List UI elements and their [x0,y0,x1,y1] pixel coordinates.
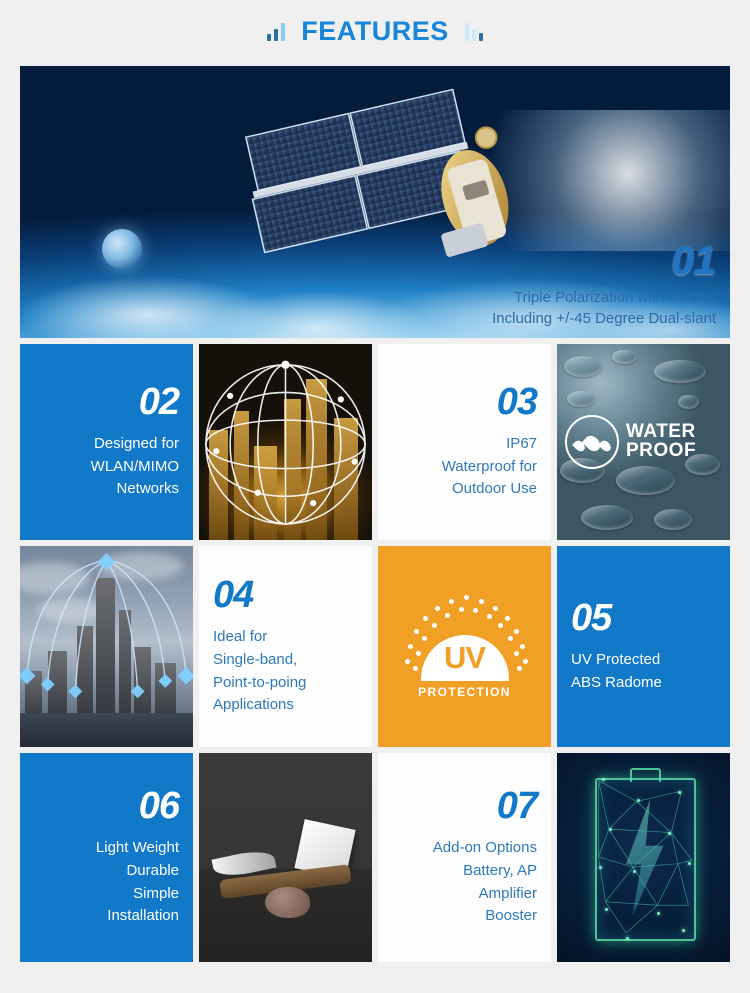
features-page: FEATURES [0,0,750,993]
water-droplets-photo[interactable]: WATER PROOF [557,344,730,540]
bar-chart-icon-left [267,21,285,41]
feature-line: Installation [96,905,179,928]
bar-chart-icon-right [465,21,483,41]
feature-line: Ideal for [213,626,306,649]
feature-line: IP67 [442,433,537,456]
uv-protection-card[interactable]: UV PROTECTION [378,546,551,747]
feature-line: Simple [96,883,179,906]
feature-number-02: 02 [139,383,179,421]
page-header: FEATURES [0,0,750,62]
stone-object [265,887,310,918]
feature-card-03[interactable]: 03 IP67 Waterproof for Outdoor Use [378,344,551,540]
uv-protection-label: PROTECTION [403,685,527,699]
feature-line: Waterproof for [442,456,537,479]
feature-number-05: 05 [571,599,611,637]
feature-number-04: 04 [213,576,253,614]
feature-line: Networks [91,478,179,501]
feature-line: WLAN/MIMO [91,456,179,479]
network-globe-overlay [199,344,372,534]
night-city-network-globe-photo[interactable] [199,344,372,540]
uv-label: UV [421,635,509,681]
feature-line: Booster [433,905,537,928]
low-poly-battery-lightning-photo[interactable] [557,753,730,962]
feature-line: ABS Radome [571,672,662,695]
feature-number-07: 07 [497,787,537,825]
page-title: FEATURES [301,16,449,47]
feature-line: Light Weight [96,837,179,860]
features-grid: 01 Triple Polarization with 3 Ports Incl… [20,66,730,962]
feature-line: Amplifier [433,883,537,906]
feature-card-01-text: 01 Triple Polarization with 3 Ports Incl… [492,241,716,331]
wireless-arcs-overlay [20,546,193,736]
feature-number-06: 06 [139,787,179,825]
feature-line: Including +/-45 Degree Dual-slant [492,308,716,330]
feature-card-05[interactable]: 05 UV Protected ABS Radome [557,546,730,747]
feature-line: Triple Polarization with 3 Ports [492,287,716,309]
waterproof-label-line2: PROOF [626,442,696,461]
feature-line: Add-on Options [433,837,537,860]
city-skyline-wireless-signal-photo[interactable] [20,546,193,747]
water-drop-icon [565,415,619,469]
feature-line: Applications [213,694,306,717]
feature-line: Durable [96,860,179,883]
feature-line: Outdoor Use [442,478,537,501]
waterproof-badge: WATER PROOF [565,415,696,469]
feature-card-02[interactable]: 02 Designed for WLAN/MIMO Networks [20,344,193,540]
feather-and-box-balanced-on-log-photo[interactable] [199,753,372,962]
feature-number-01: 01 [492,241,716,281]
feature-card-06[interactable]: 06 Light Weight Durable Simple Installat… [20,753,193,962]
feature-line: Designed for [91,433,179,456]
feature-line: UV Protected [571,649,662,672]
feature-line: Battery, AP [433,860,537,883]
feature-card-04[interactable]: 04 Ideal for Single-band, Point-to-poing… [199,546,372,747]
feature-line: Single-band, [213,649,306,672]
low-poly-mesh [557,753,730,961]
uv-sun-icon: UV PROTECTION [403,593,527,701]
feature-line: Point-to-poing [213,672,306,695]
feature-card-07[interactable]: 07 Add-on Options Battery, AP Amplifier … [378,753,551,962]
feature-card-01[interactable]: 01 Triple Polarization with 3 Ports Incl… [20,66,730,338]
feature-number-03: 03 [497,383,537,421]
